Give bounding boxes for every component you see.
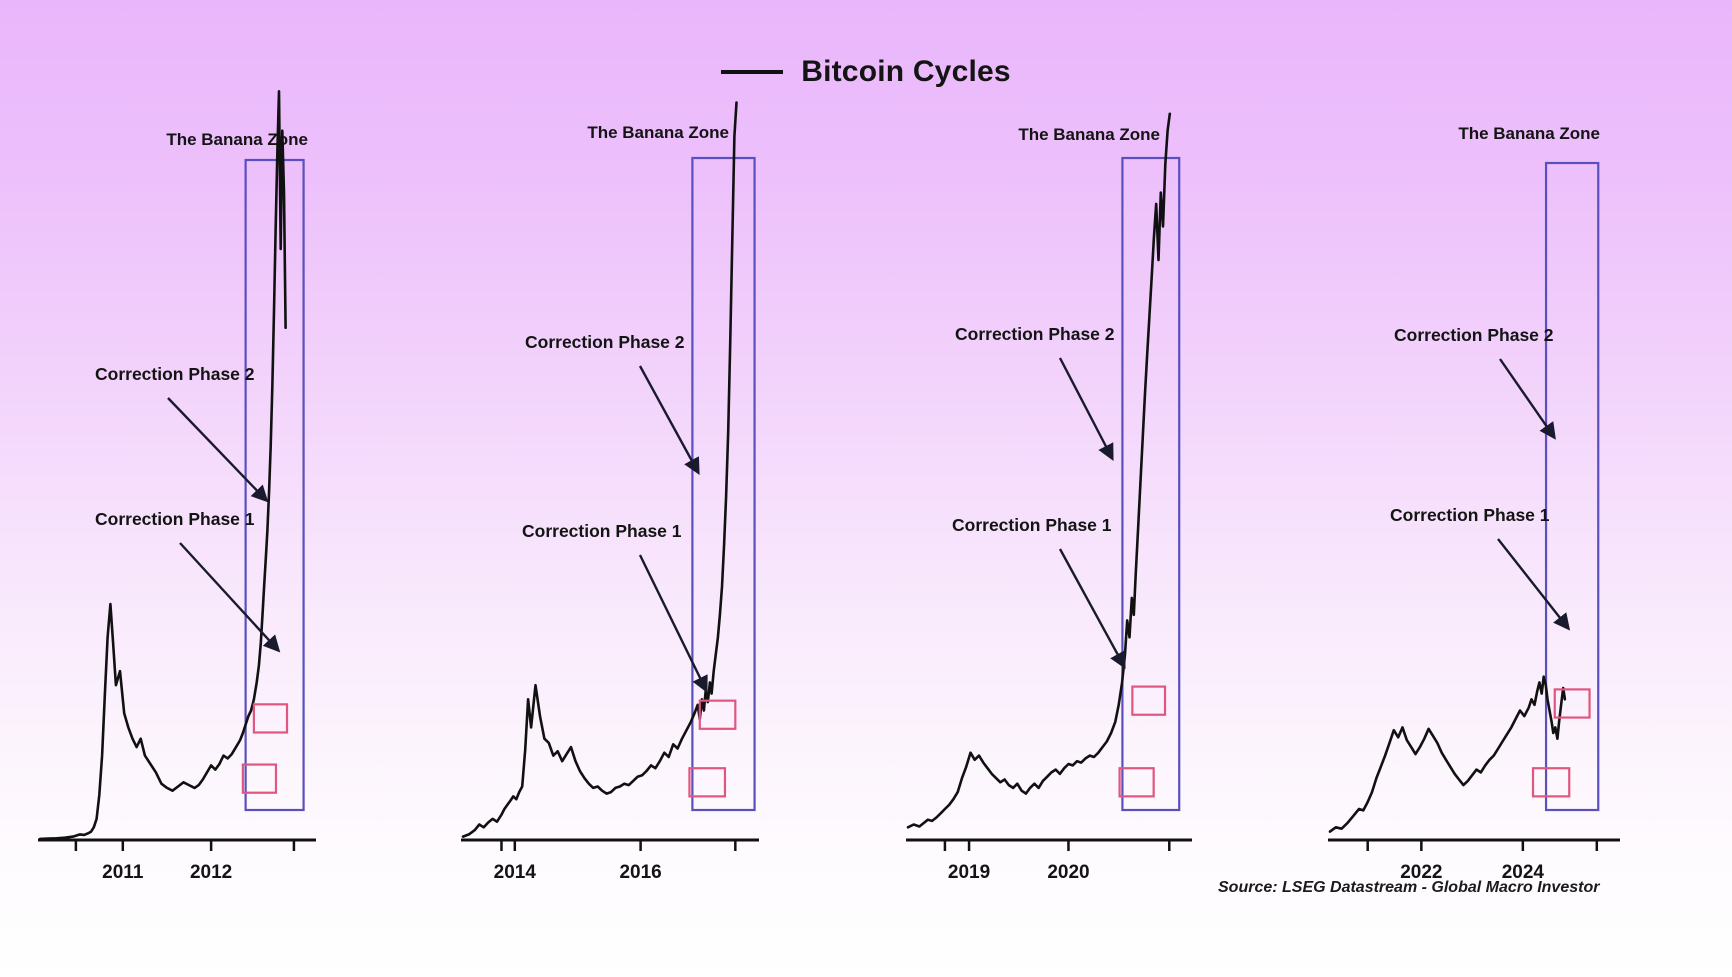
price-line xyxy=(40,91,286,839)
correction-box-phase-2 xyxy=(254,704,287,732)
correction-phase-1-label: Correction Phase 1 xyxy=(95,509,255,529)
cycles-svg: 20112012The Banana ZoneCorrection Phase … xyxy=(0,0,1732,977)
source-attribution: Source: LSEG Datastream - Global Macro I… xyxy=(1218,879,1599,897)
correction-phase-1-arrow xyxy=(1498,539,1568,628)
x-axis-tick-label: 2020 xyxy=(1047,862,1089,883)
correction-phase-2-label: Correction Phase 2 xyxy=(95,364,255,384)
correction-box-phase-1 xyxy=(1120,768,1154,796)
x-axis-tick-label: 2014 xyxy=(494,862,537,883)
correction-phase-1-label: Correction Phase 1 xyxy=(522,521,682,541)
correction-phase-2-label: Correction Phase 2 xyxy=(1394,325,1554,345)
correction-box-phase-1 xyxy=(243,765,276,793)
correction-phase-2-arrow xyxy=(640,366,698,472)
correction-phase-2-label: Correction Phase 2 xyxy=(525,332,685,352)
banana-zone-label: The Banana Zone xyxy=(1458,124,1600,143)
x-axis-tick-label: 2019 xyxy=(948,862,990,883)
correction-phase-1-label: Correction Phase 1 xyxy=(1390,505,1550,525)
x-axis-tick-label: 2012 xyxy=(190,862,232,883)
x-axis-tick-label: 2016 xyxy=(619,862,661,883)
correction-box-phase-1 xyxy=(689,768,725,796)
correction-phase-2-arrow xyxy=(1060,358,1112,458)
correction-phase-1-arrow xyxy=(640,555,706,690)
price-line xyxy=(908,114,1170,828)
correction-phase-1-label: Correction Phase 1 xyxy=(952,515,1112,535)
x-axis-tick-label: 2011 xyxy=(102,862,144,883)
correction-phase-2-arrow xyxy=(168,398,266,500)
correction-box-phase-1 xyxy=(1533,768,1569,796)
correction-phase-1-arrow xyxy=(1060,549,1124,666)
cycle-panel-2: 20142016The Banana ZoneCorrection Phase … xyxy=(461,103,759,884)
cycle-panel-4: 20222024The Banana ZoneCorrection Phase … xyxy=(1328,124,1620,883)
cycle-panel-3: 20192020The Banana ZoneCorrection Phase … xyxy=(906,114,1192,883)
banana-zone-label: The Banana Zone xyxy=(1018,125,1160,144)
cycle-panel-1: 20112012The Banana ZoneCorrection Phase … xyxy=(38,91,316,883)
correction-phase-2-label: Correction Phase 2 xyxy=(955,324,1115,344)
correction-box-phase-2 xyxy=(1132,687,1165,715)
banana-zone-box xyxy=(1122,158,1179,810)
price-line xyxy=(1330,677,1565,832)
banana-zone-label: The Banana Zone xyxy=(166,130,308,149)
banana-zone-label: The Banana Zone xyxy=(587,123,729,142)
chart-canvas: Bitcoin Cycles 20112012The Banana ZoneCo… xyxy=(0,0,1732,977)
